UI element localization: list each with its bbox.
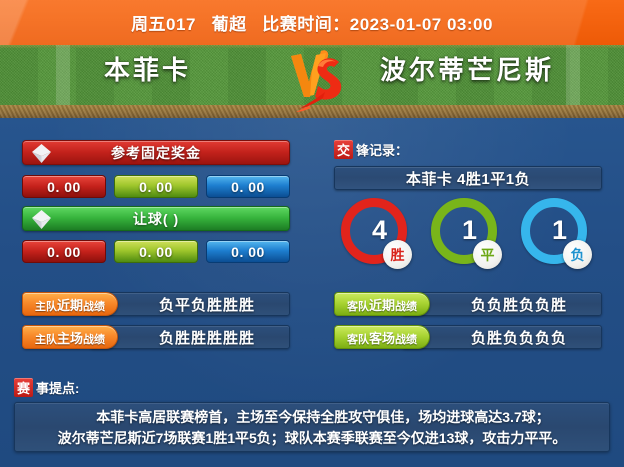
home-team-name: 本菲卡 [104,50,191,87]
handicap-odds-home[interactable]: 0. 00 [22,240,106,263]
tips-badge-icon: 赛 [14,378,33,397]
away-recent-record-row: 负负胜负负胜 客队近期战绩 [334,292,602,316]
h2h-ring-loss: 1 负 [518,198,598,288]
tips-header-label: 事提点: [36,378,79,397]
h2h-header: 交 锋记录： [334,140,408,159]
pitch-line-right [566,45,580,105]
away-away-record-value: 负胜负负负负 [471,327,567,348]
ring-loss-value: 1 [552,217,567,244]
home-home-record-slot: 负胜胜胜胜胜 [90,325,290,349]
match-header-text: 周五017 葡超 比赛时间：2023-01-07 03:00 [131,10,493,35]
fixed-odds-draw[interactable]: 0. 00 [114,175,198,198]
vs-flame-icon [285,48,347,114]
ring-draw-value: 1 [462,217,477,244]
h2h-ring-win: 4 胜 [338,198,418,288]
home-home-record-row: 负胜胜胜胜胜 主队主场战绩 [22,325,290,349]
h2h-ring-draw: 1 平 [428,198,508,288]
away-away-record-slot: 负胜负负负负 [402,325,602,349]
fixed-odds-row: 0. 00 0. 00 0. 00 [22,175,290,198]
h2h-summary-bar: 本菲卡 4胜1平1负 [334,166,602,190]
ring-win-label: 胜 [383,240,412,269]
card-body: 参考固定奖金 0. 00 0. 00 0. 00 让球( ) 0. 00 0. … [0,118,624,467]
pitch-line-left [56,45,70,105]
away-recent-record-slot: 负负胜负负胜 [402,292,602,316]
match-preview-card: 周五017 葡超 比赛时间：2023-01-07 03:00 本菲卡 波尔蒂芒尼… [0,0,624,467]
home-recent-record-slot: 负平负胜胜胜 [90,292,290,316]
head-to-head-panel: 交 锋记录： 本菲卡 4胜1平1负 4 胜 1 平 [312,118,624,358]
handicap-title-bar[interactable]: 让球( ) [22,206,290,231]
home-recent-record-row: 负平负胜胜胜 主队近期战绩 [22,292,290,316]
fixed-odds-away[interactable]: 0. 00 [206,175,290,198]
h2h-summary-text: 本菲卡 4胜1平1负 [406,168,530,189]
fixed-odds-title-bar[interactable]: 参考固定奖金 [22,140,290,165]
diamond-icon [31,143,52,164]
match-header-bar: 周五017 葡超 比赛时间：2023-01-07 03:00 [0,0,624,45]
away-team-name: 波尔蒂芒尼斯 [380,50,554,87]
ring-win-value: 4 [372,217,387,244]
h2h-rings: 4 胜 1 平 1 负 [334,198,602,288]
away-recent-record-tab-label: 客队近期战绩 [347,295,417,314]
away-away-record-tab[interactable]: 客队客场战绩 [334,325,430,349]
ring-draw-label: 平 [473,240,502,269]
tips-line-1: 本菲卡高居联赛榜首，主场至今保持全胜攻守俱佳，场均进球高达3.7球； [23,407,601,428]
home-recent-record-tab-label: 主队近期战绩 [35,295,105,314]
away-recent-record-value: 负负胜负负胜 [471,294,567,315]
handicap-odds-away[interactable]: 0. 00 [206,240,290,263]
tips-line-2: 波尔蒂芒尼斯近7场联赛1胜1平5负；球队本赛季联赛至今仅进13球，攻击力平平。 [23,428,601,449]
fixed-odds-title-label: 参考固定奖金 [111,143,201,163]
h2h-header-label: 锋记录： [356,140,408,159]
home-home-record-tab-label: 主队主场战绩 [35,328,105,347]
fixed-odds-home[interactable]: 0. 00 [22,175,106,198]
away-away-record-tab-label: 客队客场战绩 [347,328,417,347]
handicap-odds-draw[interactable]: 0. 00 [114,240,198,263]
h2h-badge-icon: 交 [334,140,353,159]
handicap-odds-row: 0. 00 0. 00 0. 00 [22,240,290,263]
tips-header: 赛 事提点: [14,378,79,397]
away-recent-record-tab[interactable]: 客队近期战绩 [334,292,430,316]
away-away-record-row: 负胜负负负负 客队客场战绩 [334,325,602,349]
home-home-record-value: 负胜胜胜胜胜 [159,327,255,348]
odds-panel: 参考固定奖金 0. 00 0. 00 0. 00 让球( ) 0. 00 0. … [0,118,312,358]
home-home-record-tab[interactable]: 主队主场战绩 [22,325,118,349]
ring-loss-label: 负 [563,240,592,269]
diamond-icon [31,209,52,230]
handicap-title-label: 让球( ) [133,209,179,229]
home-recent-record-value: 负平负胜胜胜 [159,294,255,315]
home-recent-record-tab[interactable]: 主队近期战绩 [22,292,118,316]
tips-box: 本菲卡高居联赛榜首，主场至今保持全胜攻守俱佳，场均进球高达3.7球； 波尔蒂芒尼… [14,402,610,452]
